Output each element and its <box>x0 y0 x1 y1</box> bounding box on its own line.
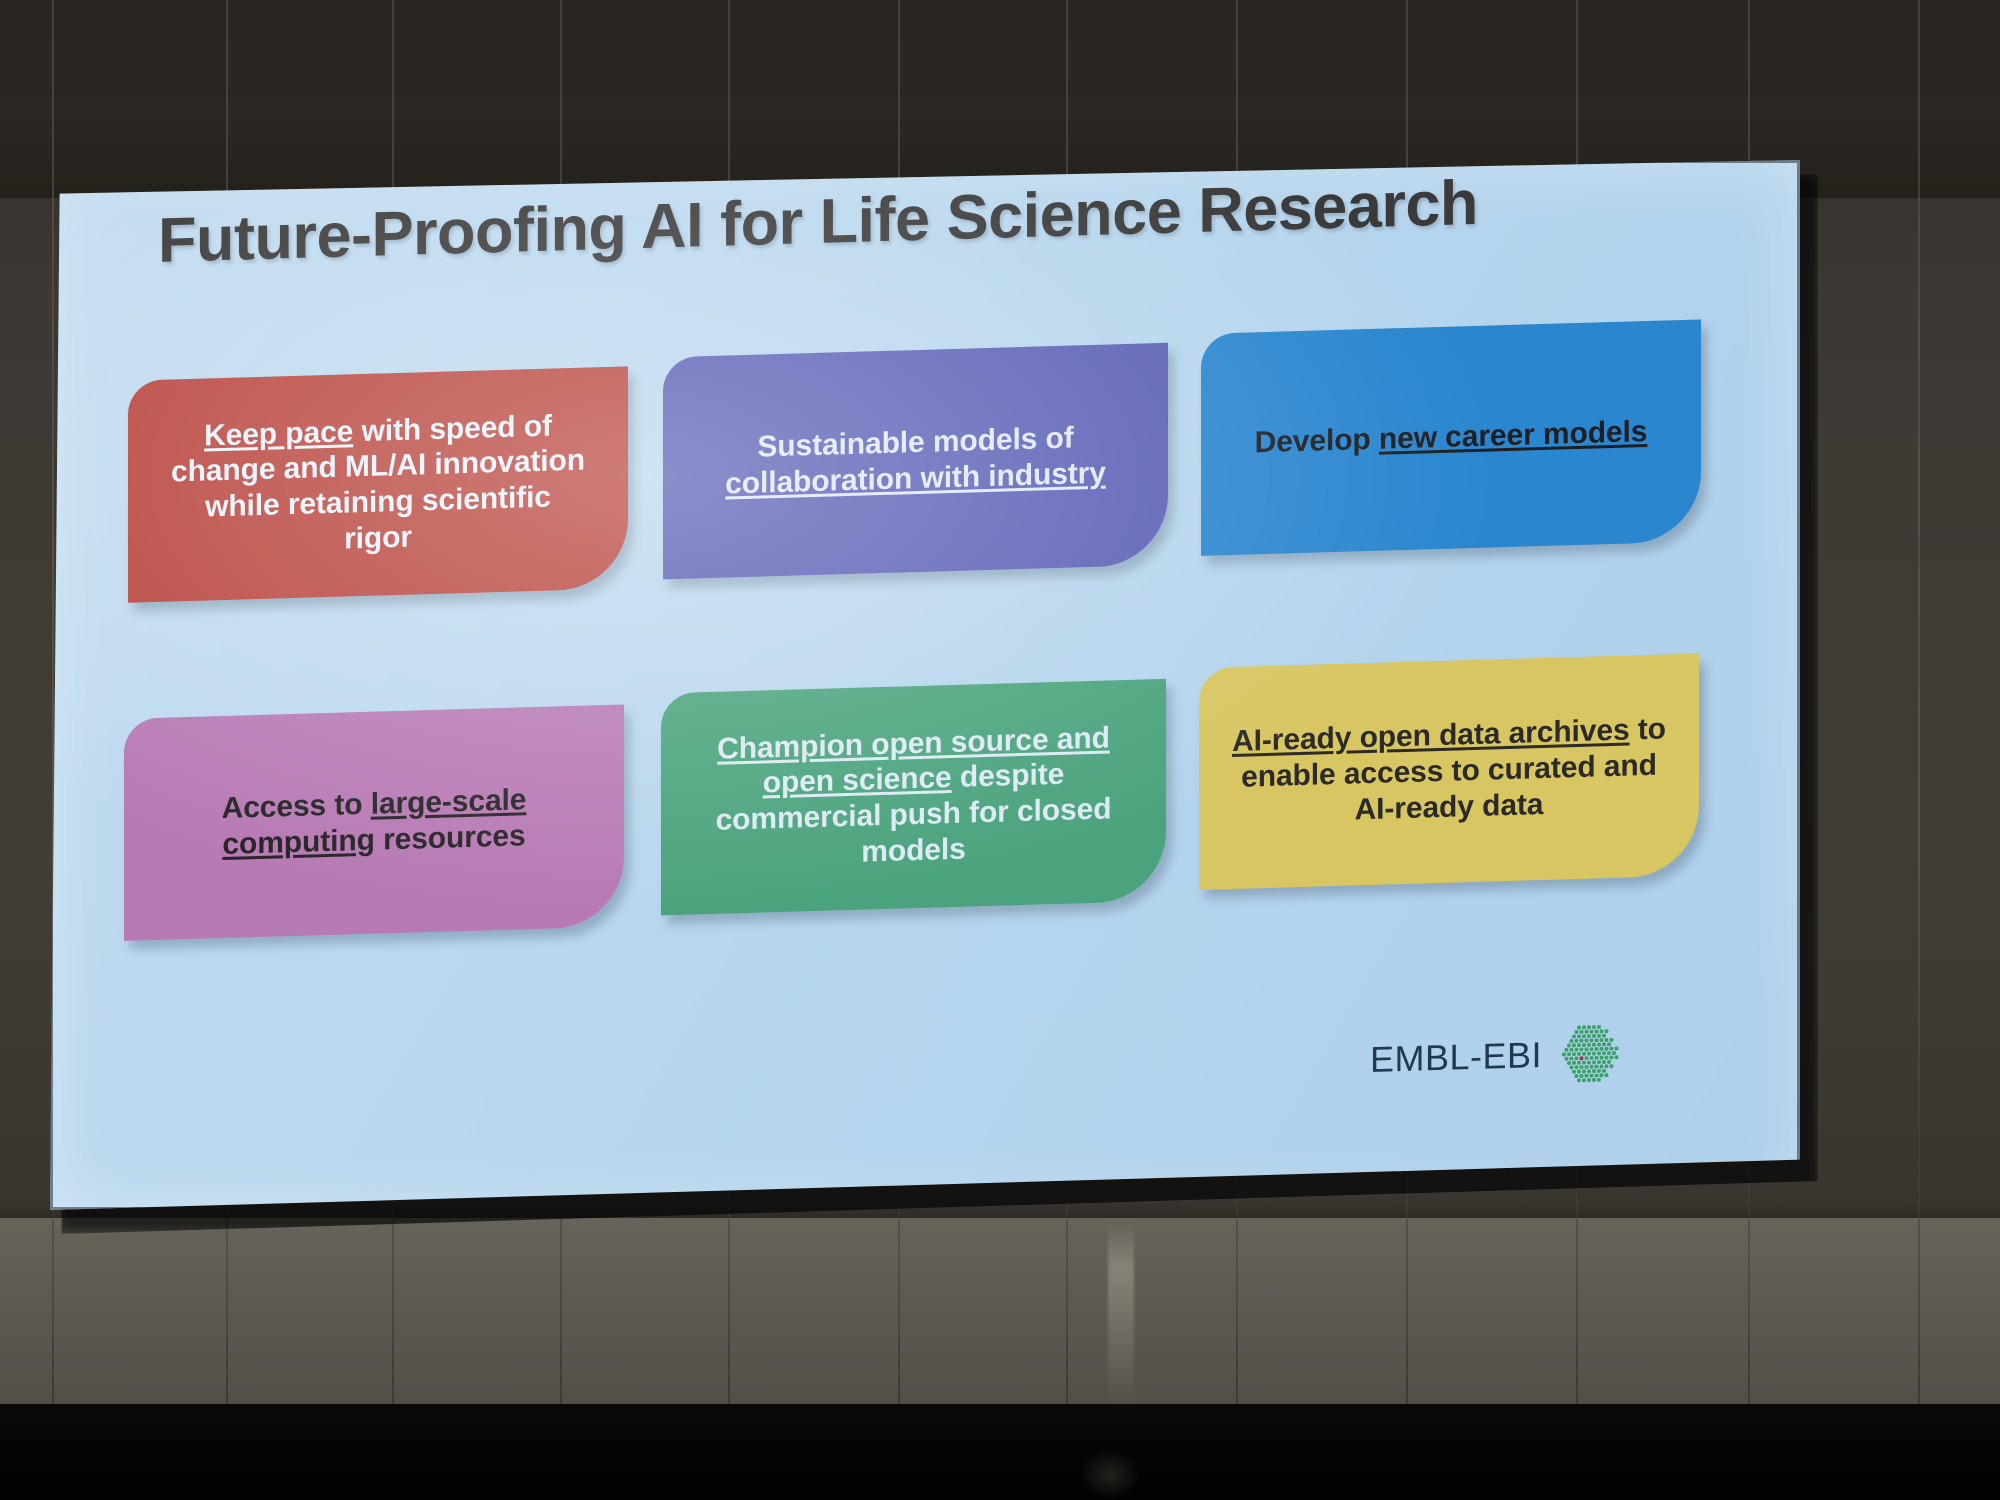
card-row-1: Keep pace with speed ofchange and ML/AI … <box>128 328 1688 373</box>
embl-ebi-hexagon-dot-matrix-icon <box>1558 1020 1620 1088</box>
card-large-scale-computing-text: Access to large-scalecomputing resources <box>222 783 527 863</box>
card-keep-pace[interactable]: Keep pace with speed ofchange and ML/AI … <box>128 366 628 602</box>
card-ai-ready-archives[interactable]: AI-ready open data archives toenable acc… <box>1199 653 1699 889</box>
card-ai-ready-archives-text: AI-ready open data archives toenable acc… <box>1232 712 1666 832</box>
card-keep-pace-text: Keep pace with speed ofchange and ML/AI … <box>171 407 585 562</box>
card-open-source-open-science[interactable]: Champion open source andopen science des… <box>661 679 1166 916</box>
card-large-scale-computing[interactable]: Access to large-scalecomputing resources <box>124 704 624 940</box>
card-sustainable-collaboration-text: Sustainable models ofcollaboration with … <box>725 420 1106 502</box>
page-title: Future-Proofing AI for Life Science Rese… <box>158 165 1558 277</box>
slide-content: Future-Proofing AI for Life Science Rese… <box>50 110 1800 1210</box>
floor-dark-band <box>0 1404 2000 1500</box>
embl-ebi-logo: EMBL-EBI <box>1370 1020 1620 1093</box>
screenshot-stage: Future-Proofing AI for Life Science Rese… <box>0 0 2000 1500</box>
card-open-source-open-science-text: Champion open source andopen science des… <box>716 720 1112 874</box>
card-row-2: Access to large-scalecomputing resources… <box>128 658 1688 703</box>
wall-scuff-streak <box>1108 1222 1134 1407</box>
card-career-models[interactable]: Develop new career models <box>1201 319 1701 555</box>
card-sustainable-collaboration[interactable]: Sustainable models ofcollaboration with … <box>663 343 1168 580</box>
card-career-models-text: Develop new career models <box>1255 414 1648 461</box>
statement-card-grid: Keep pace with speed ofchange and ML/AI … <box>128 328 1688 373</box>
embl-ebi-logo-text: EMBL-EBI <box>1370 1034 1542 1081</box>
projection-screen: Future-Proofing AI for Life Science Rese… <box>50 160 1800 1210</box>
